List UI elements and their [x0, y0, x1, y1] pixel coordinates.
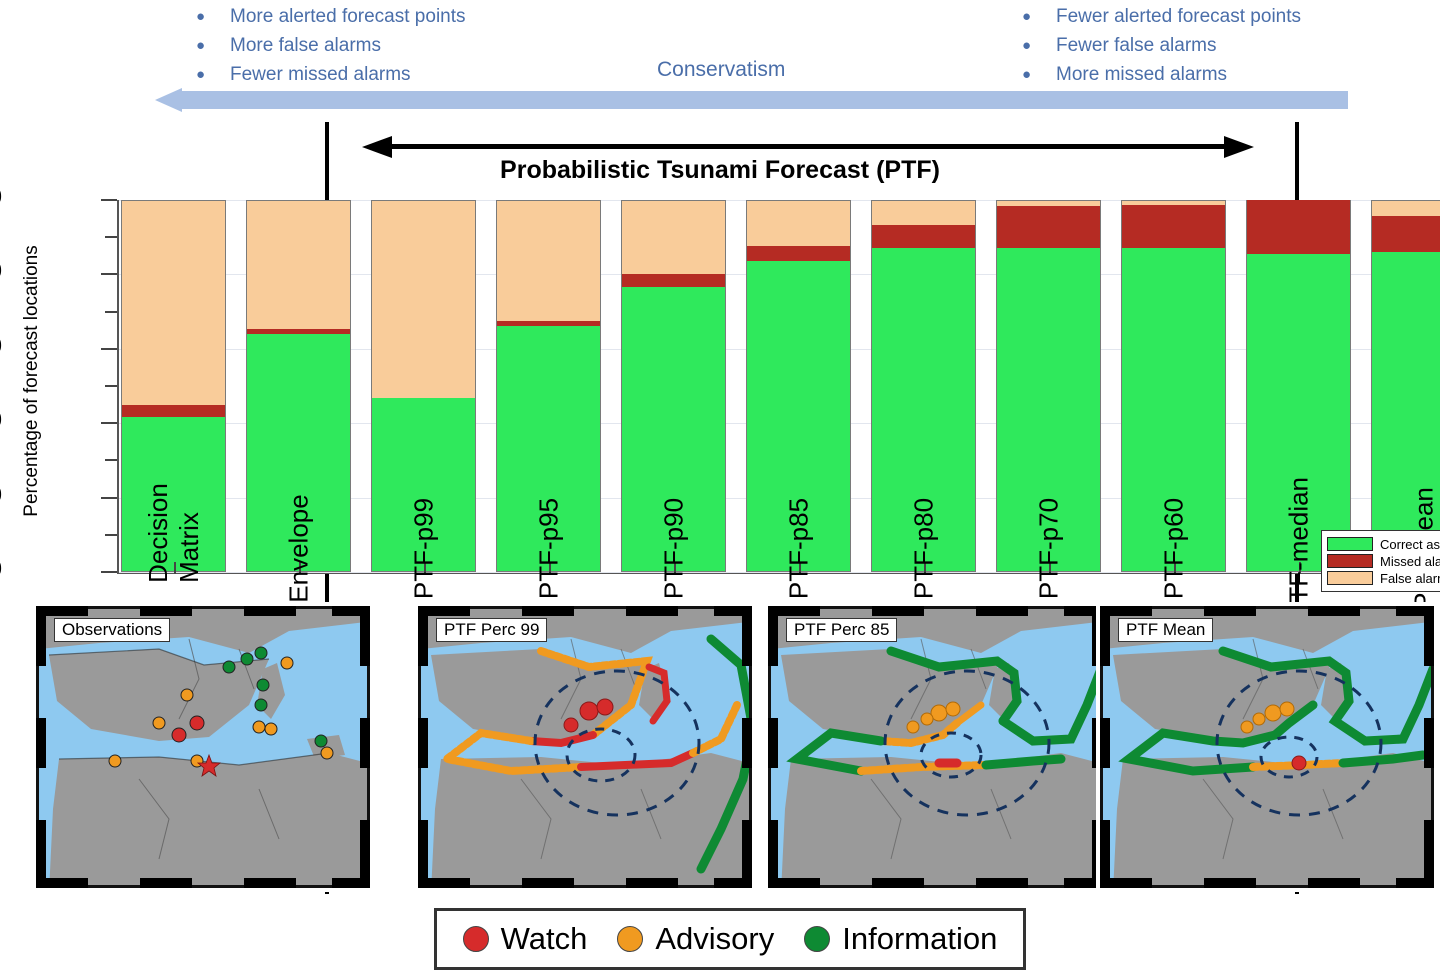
bar-ptf-p70[interactable]: PTF-p70 — [996, 200, 1101, 572]
bar-segment-missed — [1121, 205, 1226, 248]
bar-segment-false — [1121, 200, 1226, 205]
bar-segment-false — [621, 200, 726, 274]
bar-segment-missed — [996, 206, 1101, 248]
bar-label: PTF-p95 — [533, 498, 564, 599]
legend-label: False alarm — [1380, 571, 1440, 586]
bar-segment-false — [371, 200, 476, 398]
bar-segment-missed — [121, 405, 226, 416]
list-item: ● Fewer alerted forecast points — [1022, 2, 1301, 31]
bullet-dot-icon: ● — [1022, 2, 1056, 31]
y-axis-tick-label: 20 — [0, 484, 2, 506]
conservatism-axis-label: Conservatism — [657, 58, 785, 82]
bullet-dot-icon: ● — [196, 31, 230, 60]
bar-label: PTF-p85 — [783, 498, 814, 599]
ptf-range-bracket: Probabilistic Tsunami Forecast (PTF) — [0, 118, 1440, 180]
bar-decision-matrix[interactable]: DecisionMatrix — [121, 200, 226, 572]
bar-label: PTF-median — [1283, 477, 1314, 620]
bar-segment-false — [496, 200, 601, 321]
y-axis-tick-label: 0 — [0, 558, 2, 580]
map-graphic-observations — [39, 609, 370, 888]
bullet-dot-icon: ● — [1022, 31, 1056, 60]
map-graphic-ptf-perc-85 — [771, 609, 1102, 888]
y-axis-tick — [101, 422, 117, 424]
map-panel-observations[interactable]: Observations — [32, 602, 374, 892]
legend-item-advisory: Advisory — [617, 921, 774, 957]
y-axis-minor-tick — [105, 534, 117, 536]
map-title: Observations — [54, 618, 170, 642]
legend-item: Missed alarm — [1327, 553, 1440, 569]
arrow-head-right-icon — [1224, 136, 1254, 158]
right-bullet-list: ● Fewer alerted forecast points ● Fewer … — [1022, 2, 1301, 89]
map-title: PTF Perc 99 — [436, 618, 547, 642]
bar-ptf-p99[interactable]: PTF-p99 — [371, 200, 476, 572]
list-item: ● More false alarms — [196, 31, 466, 60]
legend-item: False alarm — [1327, 570, 1440, 586]
chart-legend: Correct assignment Missed alarm False al… — [1321, 530, 1440, 592]
ptf-double-arrow-icon — [362, 136, 1254, 158]
watch-dot-icon — [463, 926, 489, 952]
bar-segment-missed — [246, 329, 351, 334]
arrow-shaft — [181, 91, 1348, 109]
list-item: ● Fewer missed alarms — [196, 60, 466, 89]
bar-segment-missed — [621, 274, 726, 288]
information-dot-icon — [804, 926, 830, 952]
bar-segment-missed — [746, 246, 851, 262]
bullet-dot-icon: ● — [196, 2, 230, 31]
bar-segment-false — [121, 200, 226, 405]
y-axis-tick — [101, 571, 117, 573]
bar-label: PTF-p80 — [908, 498, 939, 599]
bullet-text: Fewer false alarms — [1056, 31, 1217, 60]
bar-segment-false — [246, 200, 351, 329]
y-axis-tick — [101, 273, 117, 275]
bar-segment-missed — [1246, 200, 1351, 254]
bullet-text: Fewer missed alarms — [230, 60, 411, 89]
y-axis-tick-label: 40 — [0, 409, 2, 431]
legend-swatch-false — [1327, 571, 1373, 585]
bar-label: PTF-p99 — [408, 498, 439, 599]
list-item: ● More missed alarms — [1022, 60, 1301, 89]
arrow-head-left-icon — [155, 88, 182, 112]
bar-segment-false — [746, 200, 851, 246]
map-title: PTF Mean — [1118, 618, 1213, 642]
bar-envelope[interactable]: Envelope — [246, 200, 351, 572]
plot-area: DecisionMatrixEnvelopePTF-p99PTF-p95PTF-… — [117, 200, 1399, 574]
y-axis-tick — [101, 497, 117, 499]
legend-item: Correct assignment — [1327, 536, 1440, 552]
legend-swatch-correct — [1327, 537, 1373, 551]
map-frame — [1100, 606, 1434, 888]
map-graphic-ptf-mean — [1103, 609, 1434, 888]
y-axis-tick-label: 80 — [0, 260, 2, 282]
arrow-head-left-icon — [362, 136, 392, 158]
bar-ptf-p95[interactable]: PTF-p95 — [496, 200, 601, 572]
y-axis-minor-tick — [105, 236, 117, 238]
bar-segment-missed — [496, 321, 601, 326]
legend-label: Information — [842, 921, 997, 957]
alert-level-legend: Watch Advisory Information — [434, 908, 1026, 970]
bar-label: DecisionMatrix — [143, 483, 205, 583]
conservatism-annotation-band: ● More alerted forecast points ● More fa… — [0, 0, 1440, 118]
advisory-dot-icon — [617, 926, 643, 952]
legend-label: Watch — [501, 921, 588, 957]
legend-label: Advisory — [655, 921, 774, 957]
bar-ptf-p85[interactable]: PTF-p85 — [746, 200, 851, 572]
map-panel-ptf-perc-85[interactable]: PTF Perc 85 — [764, 602, 1106, 892]
bar-ptf-p80[interactable]: PTF-p80 — [871, 200, 976, 572]
map-title: PTF Perc 85 — [786, 618, 897, 642]
map-graphic-ptf-perc-99 — [421, 609, 752, 888]
arrow-shaft — [390, 144, 1226, 149]
map-frame — [36, 606, 370, 888]
map-panel-ptf-mean[interactable]: PTF Mean — [1096, 602, 1438, 892]
bar-label: Envelope — [283, 494, 314, 602]
bar-label: PTF-p70 — [1033, 498, 1064, 599]
legend-item-information: Information — [804, 921, 997, 957]
list-item: ● Fewer false alarms — [1022, 31, 1301, 60]
stacked-bar-chart: Percentage of forecast locations Decisio… — [0, 180, 1440, 600]
y-axis-minor-tick — [105, 385, 117, 387]
bullet-text: More missed alarms — [1056, 60, 1227, 89]
left-bullet-list: ● More alerted forecast points ● More fa… — [196, 2, 466, 89]
bullet-dot-icon: ● — [196, 60, 230, 89]
legend-label: Correct assignment — [1380, 537, 1440, 552]
bar-label: PTF-p90 — [658, 498, 689, 599]
conservatism-left-arrow-icon — [155, 88, 1348, 112]
bar-ptf-p90[interactable]: PTF-p90 — [621, 200, 726, 572]
bullet-text: More alerted forecast points — [230, 2, 466, 31]
y-axis-tick-label: 100 — [0, 186, 2, 208]
bar-segment-false — [996, 200, 1101, 206]
bar-segment-missed — [871, 225, 976, 248]
legend-label: Missed alarm — [1380, 554, 1440, 569]
bar-segment-missed — [1371, 216, 1440, 252]
map-frame — [418, 606, 752, 888]
bullet-dot-icon: ● — [1022, 60, 1056, 89]
bar-ptf-median[interactable]: PTF-median — [1246, 200, 1351, 572]
bar-segment-false — [1371, 200, 1440, 216]
bar-label: PTF-p60 — [1158, 498, 1189, 599]
y-axis-minor-tick — [105, 459, 117, 461]
bullet-text: Fewer alerted forecast points — [1056, 2, 1301, 31]
bullet-text: More false alarms — [230, 31, 381, 60]
bar-ptf-mean[interactable]: PTF-mean — [1371, 200, 1440, 572]
y-axis-label: Percentage of forecast locations — [21, 181, 43, 581]
list-item: ● More alerted forecast points — [196, 2, 466, 31]
legend-item-watch: Watch — [463, 921, 588, 957]
bar-segment-false — [871, 200, 976, 225]
y-axis-tick-label: 60 — [0, 335, 2, 357]
bar-ptf-p60[interactable]: PTF-p60 — [1121, 200, 1226, 572]
legend-swatch-missed — [1327, 554, 1373, 568]
map-frame — [768, 606, 1102, 888]
map-panel-ptf-perc-99[interactable]: PTF Perc 99 — [414, 602, 756, 892]
y-axis-minor-tick — [105, 311, 117, 313]
y-axis-tick — [101, 348, 117, 350]
y-axis-tick — [101, 199, 117, 201]
